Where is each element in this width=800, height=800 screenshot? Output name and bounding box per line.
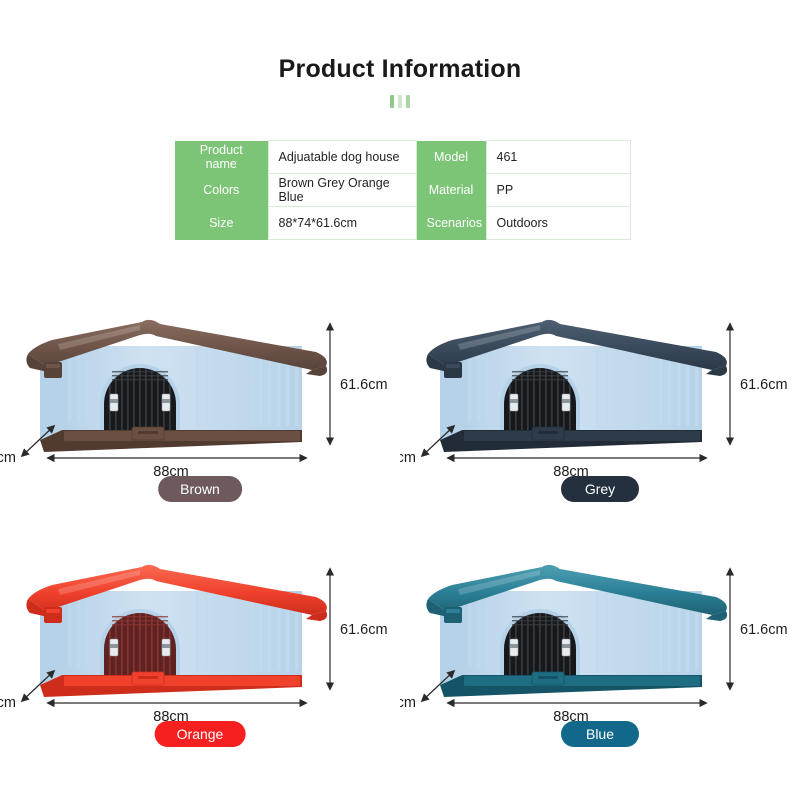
product-spec-table: Product name Adjuatable dog house Model …: [175, 140, 631, 240]
product-variant-grid: 61.6cm88cm74cm Brown 61.6cm88cm74cm Grey…: [0, 290, 800, 780]
table-row: Colors Brown Grey Orange Blue Material P…: [175, 174, 630, 207]
accent-bar-1: [390, 95, 394, 108]
color-pill-orange[interactable]: Orange: [155, 721, 246, 747]
variant-card-grey: 61.6cm88cm74cm Grey: [400, 290, 800, 535]
spec-key-material: Material: [416, 174, 486, 207]
spec-value-product-name: Adjuatable dog house: [268, 141, 416, 174]
spec-key-scenarios: Scenarios: [416, 207, 486, 240]
variant-card-blue: 61.6cm88cm74cm Blue: [400, 535, 800, 780]
table-row: Size 88*74*61.6cm Scenarios Outdoors: [175, 207, 630, 240]
spec-value-scenarios: Outdoors: [486, 207, 630, 240]
dog-house-illustration-blue: 61.6cm88cm74cm: [400, 535, 800, 730]
svg-text:74cm: 74cm: [0, 450, 16, 466]
spec-value-colors: Brown Grey Orange Blue: [268, 174, 416, 207]
dog-house-illustration-orange: 61.6cm88cm74cm: [0, 535, 400, 730]
spec-key-product-name: Product name: [175, 141, 268, 174]
svg-text:74cm: 74cm: [400, 450, 416, 466]
color-pill-blue[interactable]: Blue: [561, 721, 639, 747]
accent-bar-3: [406, 95, 410, 108]
spec-table-body: Product name Adjuatable dog house Model …: [175, 141, 630, 240]
dog-house-illustration-brown: 61.6cm88cm74cm: [0, 290, 400, 485]
spec-value-material: PP: [486, 174, 630, 207]
dog-house-illustration-grey: 61.6cm88cm74cm: [400, 290, 800, 485]
svg-text:61.6cm: 61.6cm: [340, 377, 388, 393]
color-pill-grey[interactable]: Grey: [561, 476, 639, 502]
spec-key-colors: Colors: [175, 174, 268, 207]
spec-value-size: 88*74*61.6cm: [268, 207, 416, 240]
color-pill-brown[interactable]: Brown: [158, 476, 242, 502]
spec-value-model: 461: [486, 141, 630, 174]
title-accent-decoration: [0, 95, 800, 108]
product-information-page: Product Information Product name Adjuata…: [0, 0, 800, 800]
variant-card-orange: 61.6cm88cm74cm Orange: [0, 535, 400, 780]
svg-text:61.6cm: 61.6cm: [740, 622, 788, 638]
table-row: Product name Adjuatable dog house Model …: [175, 141, 630, 174]
svg-text:61.6cm: 61.6cm: [740, 377, 788, 393]
spec-key-model: Model: [416, 141, 486, 174]
svg-text:74cm: 74cm: [400, 695, 416, 711]
accent-bar-2: [398, 95, 402, 108]
svg-text:61.6cm: 61.6cm: [340, 622, 388, 638]
svg-text:74cm: 74cm: [0, 695, 16, 711]
page-title: Product Information: [0, 55, 800, 84]
variant-card-brown: 61.6cm88cm74cm Brown: [0, 290, 400, 535]
spec-key-size: Size: [175, 207, 268, 240]
